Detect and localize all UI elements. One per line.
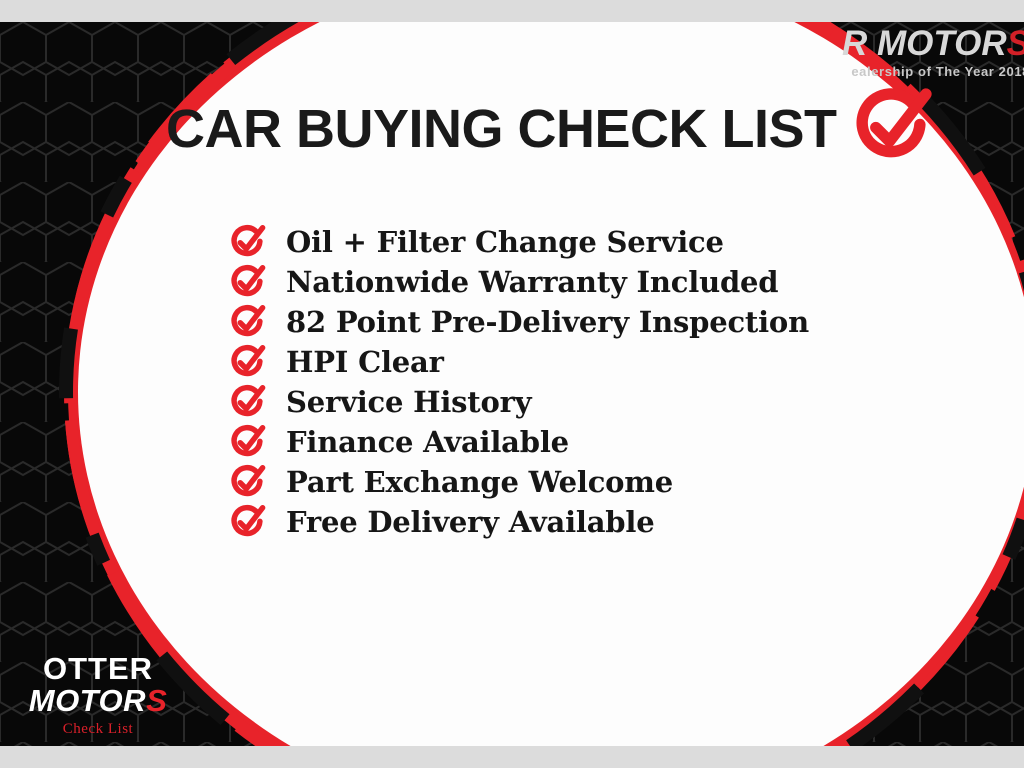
list-item: Service History [228, 382, 809, 422]
list-item-label: Service History [286, 385, 531, 419]
watermark-main: R MOTORS [842, 26, 1024, 61]
list-item: HPI Clear [228, 342, 809, 382]
list-item: Nationwide Warranty Included [228, 262, 809, 302]
list-item: Oil + Filter Change Service [228, 222, 809, 262]
watermark-main-accent: S [1007, 26, 1024, 63]
circle-check-icon [228, 425, 266, 459]
circle-check-icon [228, 465, 266, 499]
dealer-logo-tagline: Check List [18, 721, 178, 738]
circle-check-icon [228, 505, 266, 539]
dealer-logo-line2-main: MOTOR [29, 683, 146, 718]
watermark-subtitle: ealership of The Year 2018 [842, 64, 1024, 79]
list-item-label: HPI Clear [286, 345, 444, 379]
list-item-label: Free Delivery Available [286, 505, 654, 539]
poster-canvas: CAR BUYING CHECK LIST [0, 0, 1024, 768]
circle-check-icon [228, 225, 266, 259]
circle-check-icon [228, 305, 266, 339]
page-title: CAR BUYING CHECK LIST [166, 102, 837, 156]
list-item-label: Part Exchange Welcome [286, 465, 673, 499]
circle-check-icon [228, 385, 266, 419]
watermark-main-text: R MOTOR [842, 26, 1007, 63]
watermark-logo: R MOTORS ealership of The Year 2018 [842, 26, 1024, 79]
list-item-label: Oil + Filter Change Service [286, 225, 724, 259]
list-item: 82 Point Pre-Delivery Inspection [228, 302, 809, 342]
page-title-row: CAR BUYING CHECK LIST [166, 88, 929, 170]
checklist: Oil + Filter Change Service Nationwide W… [228, 222, 809, 542]
dealer-logo-line1: OTTER [18, 653, 178, 686]
list-item-label: Finance Available [286, 425, 569, 459]
dealer-logo-line2: MOTORS [18, 685, 178, 718]
letterbox-bottom [0, 746, 1024, 768]
list-item: Free Delivery Available [228, 502, 809, 542]
list-item: Finance Available [228, 422, 809, 462]
list-item-label: Nationwide Warranty Included [286, 265, 778, 299]
circle-check-icon [228, 345, 266, 379]
poster-content: CAR BUYING CHECK LIST [0, 22, 1024, 746]
circle-check-icon [228, 265, 266, 299]
letterbox-top [0, 0, 1024, 22]
list-item: Part Exchange Welcome [228, 462, 809, 502]
circle-check-icon [853, 88, 929, 164]
dealer-logo-line2-accent: S [146, 683, 167, 718]
poster-artwork: CAR BUYING CHECK LIST [0, 22, 1024, 746]
dealer-logo: OTTER MOTORS Check List [18, 653, 178, 738]
list-item-label: 82 Point Pre-Delivery Inspection [286, 305, 809, 339]
